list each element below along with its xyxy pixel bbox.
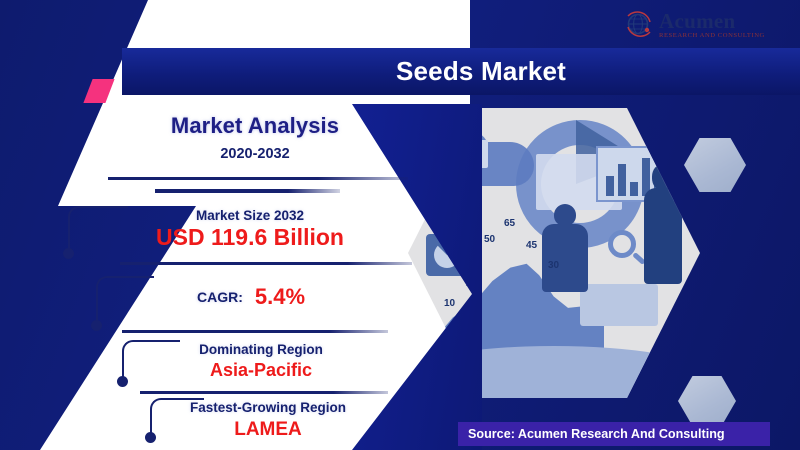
server-icon: [580, 284, 658, 326]
cagr-label: CAGR:: [197, 289, 243, 305]
fastest-growing-region-value: LAMEA: [140, 419, 396, 441]
bar-1: [606, 176, 614, 196]
illustration-data-label: 30: [548, 260, 559, 271]
analysis-years: 2020-2032: [130, 146, 380, 162]
title-band: Seeds Market: [122, 48, 800, 95]
heading-rule-short: [155, 189, 340, 193]
dominating-region-label: Dominating Region: [132, 342, 390, 357]
connector-dot: [91, 320, 102, 331]
illustration-data-label: 65: [504, 218, 515, 229]
row-divider: [140, 391, 388, 394]
row-divider: [120, 262, 412, 265]
heading-rule-long: [108, 177, 408, 180]
logo-tagline: RESEARCH AND CONSULTING: [659, 33, 765, 40]
person-standing-icon: [554, 204, 576, 226]
logo-brand: Acumen: [659, 11, 765, 32]
magnifier-icon: [608, 230, 636, 258]
logo-wordmark: Acumen RESEARCH AND CONSULTING: [659, 11, 765, 40]
row-divider: [122, 330, 388, 333]
dominating-region-value: Asia-Pacific: [132, 360, 390, 381]
connector-dot: [117, 376, 128, 387]
source-text: Source: Acumen Research And Consulting: [468, 427, 725, 441]
bar-2: [618, 164, 626, 196]
bar-3: [630, 182, 638, 196]
source-band: Source: Acumen Research And Consulting: [458, 422, 770, 446]
person-standing-body: [542, 224, 588, 292]
illustration-data-label: 45: [526, 240, 537, 251]
market-size-value: USD 119.6 Billion: [120, 224, 380, 251]
illustration-data-label: 50: [484, 234, 495, 245]
acumen-logo[interactable]: Acumen RESEARCH AND CONSULTING: [624, 6, 788, 44]
cagr-value: 5.4%: [255, 284, 305, 310]
globe-icon: [624, 10, 654, 40]
fastest-growing-region-label: Fastest-Growing Region: [140, 400, 396, 415]
analysis-heading: Market Analysis: [130, 113, 380, 139]
market-size-label: Market Size 2032: [120, 208, 380, 223]
connector-market-size: [68, 206, 128, 262]
connector-dot: [63, 248, 74, 259]
illustration-data-label: 10: [444, 298, 455, 309]
infographic-canvas: 10 20 50 65 45 30 Acumen RESEARCH AND CO…: [0, 0, 800, 450]
cagr-row: CAGR: 5.4%: [120, 282, 382, 312]
page-title: Seeds Market: [396, 56, 566, 87]
